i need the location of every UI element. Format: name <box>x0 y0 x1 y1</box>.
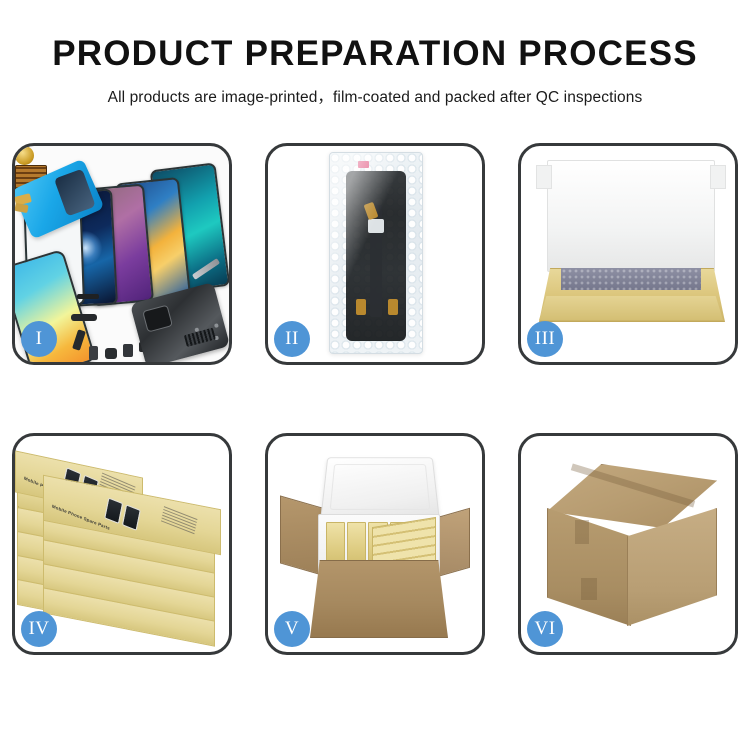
box-spec-lines-right <box>161 506 198 536</box>
step-panel-4[interactable]: Mobile Phone Spare Parts Mobile Phone Sp… <box>12 433 232 655</box>
process-step-grid: I II <box>12 143 738 655</box>
part-flex-cable-icon <box>71 314 97 321</box>
product-preparation-poster: PRODUCT PREPARATION PROCESS All products… <box>0 0 750 750</box>
step-panel-5[interactable]: V <box>265 433 485 655</box>
part-small-1-icon <box>89 346 98 360</box>
screws-icon <box>194 322 224 346</box>
bag-sheen-overlay <box>330 153 422 353</box>
step-panel-1[interactable]: I <box>12 143 232 365</box>
step-panel-3[interactable]: III <box>518 143 738 365</box>
grey-foam-insert-icon <box>561 268 701 290</box>
carton-body-icon <box>310 560 448 638</box>
part-small-3-icon <box>123 344 133 357</box>
step-badge-2: II <box>274 321 310 357</box>
foam-box-lid-icon <box>320 457 439 518</box>
carton-tape-left-2-icon <box>581 578 597 600</box>
page-subtitle: All products are image-printed，film-coat… <box>0 85 750 107</box>
kraft-tray-front-icon <box>539 296 723 320</box>
step-badge-1: I <box>21 321 57 357</box>
bubble-wrap-bag-icon <box>329 152 423 354</box>
part-gold-2-icon <box>15 203 29 213</box>
step-panel-2[interactable]: II <box>265 143 485 365</box>
carton-right-face-icon <box>627 508 717 626</box>
part-strip-icon <box>77 294 99 299</box>
step-badge-3: III <box>527 321 563 357</box>
step-badge-4: IV <box>21 611 57 647</box>
carton-left-face-icon <box>547 508 631 626</box>
part-small-2-icon <box>105 348 117 359</box>
step-panel-6[interactable]: VI <box>518 433 738 655</box>
header: PRODUCT PREPARATION PROCESS All products… <box>0 0 750 107</box>
step-badge-5: V <box>274 611 310 647</box>
step-badge-6: VI <box>527 611 563 647</box>
white-foam-lid-icon <box>547 160 715 272</box>
part-coil-icon <box>15 146 34 165</box>
carton-tape-left-1-icon <box>575 520 589 544</box>
page-title: PRODUCT PREPARATION PROCESS <box>0 36 750 71</box>
